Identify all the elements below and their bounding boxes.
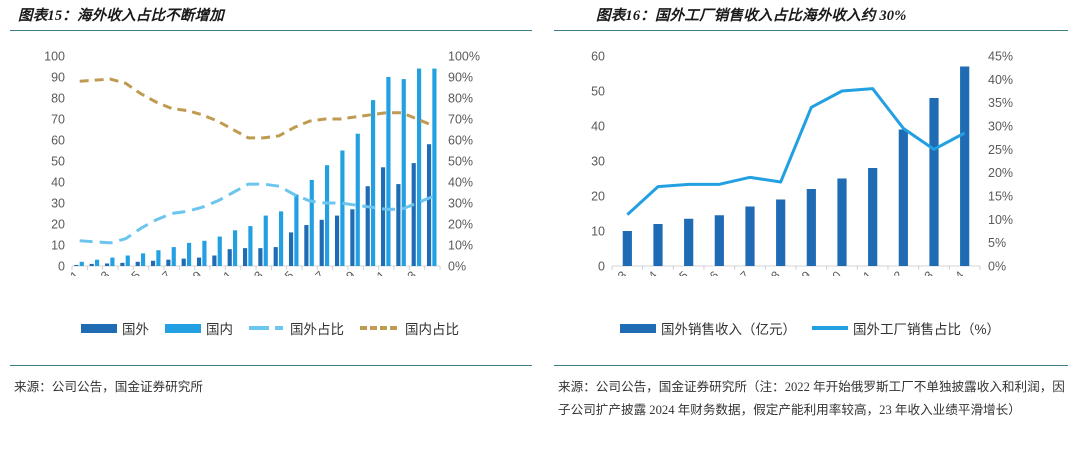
x-axis-tick-label: 2021 bbox=[360, 268, 389, 276]
legend-line-swatch bbox=[249, 326, 285, 330]
x-axis-tick-label-group: 2009 bbox=[176, 268, 205, 276]
line-series bbox=[80, 79, 433, 138]
y2-axis-tick-label: 0% bbox=[988, 260, 1006, 274]
x-axis-tick-label-group: 2019 bbox=[785, 268, 814, 276]
bar bbox=[412, 163, 416, 266]
y2-axis-tick-label: 30% bbox=[988, 120, 1013, 134]
x-axis-tick-label: 2019 bbox=[329, 268, 358, 276]
legend-dash-swatch bbox=[360, 326, 400, 330]
bar bbox=[294, 195, 298, 266]
x-axis-tick-label-group: 2011 bbox=[207, 268, 235, 276]
bar bbox=[110, 258, 114, 266]
figure-panel-16: 图表16：国外工厂销售收入占比海外收入约 30% 01020304050600%… bbox=[540, 0, 1080, 471]
bar bbox=[371, 100, 375, 266]
x-axis-tick-label: 2024 bbox=[938, 268, 967, 276]
bar bbox=[289, 232, 293, 266]
figure-panel-15: 图表15：海外收入占比不断增加 01020304050607080901000%… bbox=[0, 0, 540, 471]
y-axis-tick-label: 0 bbox=[598, 260, 605, 274]
y-axis-tick-label: 10 bbox=[591, 225, 605, 239]
x-axis-tick-label: 2015 bbox=[268, 268, 297, 276]
bar bbox=[304, 225, 308, 266]
y2-axis-tick-label: 100% bbox=[448, 50, 480, 64]
y-axis-tick-label: 90 bbox=[51, 71, 65, 85]
bar bbox=[95, 260, 99, 266]
bar bbox=[274, 247, 278, 266]
x-axis-tick-label-group: 2017 bbox=[298, 268, 327, 276]
bar bbox=[396, 184, 400, 266]
legend-bar-swatch bbox=[81, 324, 117, 333]
bar bbox=[264, 216, 268, 266]
source-divider-right bbox=[554, 365, 1068, 366]
x-axis-tick-label: 2007 bbox=[145, 268, 174, 276]
y-axis-tick-label: 40 bbox=[591, 120, 605, 134]
x-axis-tick-label: 2020 bbox=[815, 268, 844, 276]
x-axis-tick-label-group: 2023 bbox=[390, 268, 419, 276]
page-title-15: 图表15：海外收入占比不断增加 bbox=[18, 4, 526, 25]
y2-axis-tick-label: 25% bbox=[988, 143, 1013, 157]
x-axis-tick-label-group: 2017 bbox=[723, 268, 752, 276]
x-axis-tick-label: 2016 bbox=[693, 268, 722, 276]
x-axis-tick-label: 2013 bbox=[601, 268, 630, 276]
y2-axis-tick-label: 30% bbox=[448, 197, 473, 211]
bar bbox=[366, 186, 370, 266]
y2-axis-tick-label: 60% bbox=[448, 134, 473, 148]
y-axis-tick-label: 100 bbox=[44, 50, 65, 64]
y-axis-tick-label: 60 bbox=[51, 134, 65, 148]
chart-16-legend: 国外销售收入（亿元）国外工厂销售占比（%） bbox=[540, 318, 1080, 338]
line-series bbox=[627, 89, 964, 215]
y-axis-tick-label: 20 bbox=[51, 218, 65, 232]
x-axis-tick-label: 2023 bbox=[390, 268, 419, 276]
x-axis-tick-label: 2013 bbox=[237, 268, 266, 276]
bar bbox=[340, 151, 344, 267]
x-axis-tick-label: 2018 bbox=[754, 268, 783, 276]
bar bbox=[402, 79, 406, 266]
x-axis-tick-label: 2015 bbox=[662, 268, 691, 276]
bar bbox=[141, 253, 145, 266]
bar bbox=[197, 258, 201, 266]
x-axis-tick-label-group: 2021 bbox=[360, 268, 389, 276]
y2-axis-tick-label: 50% bbox=[448, 155, 473, 169]
bar bbox=[126, 256, 130, 267]
bar bbox=[868, 168, 877, 266]
x-axis-tick-label-group: 2016 bbox=[693, 268, 722, 276]
y2-axis-tick-label: 20% bbox=[448, 218, 473, 232]
bar bbox=[807, 189, 816, 266]
y-axis-tick-label: 60 bbox=[591, 50, 605, 64]
bar bbox=[151, 261, 155, 266]
bar bbox=[80, 262, 84, 266]
bar bbox=[929, 98, 938, 266]
y2-axis-tick-label: 5% bbox=[988, 236, 1006, 250]
legend-label: 国外工厂销售占比（%） bbox=[853, 318, 1000, 338]
y-axis-tick-label: 0 bbox=[58, 260, 65, 274]
y-axis-tick-label: 50 bbox=[591, 85, 605, 99]
legend-item[interactable]: 国内占比 bbox=[360, 318, 459, 338]
source-note-16: 来源：公司公告，国金证券研究所（注：2022 年开始俄罗斯工厂不单独披露收入和利… bbox=[558, 376, 1066, 423]
legend-bar-swatch bbox=[165, 324, 201, 333]
x-axis-tick-label: 2022 bbox=[877, 268, 906, 276]
legend-bar-swatch bbox=[620, 324, 656, 333]
bar bbox=[74, 265, 78, 266]
legend-item[interactable]: 国外销售收入（亿元） bbox=[620, 318, 796, 338]
bar bbox=[182, 259, 186, 266]
bar bbox=[899, 130, 908, 267]
x-axis-tick-label-group: 2018 bbox=[754, 268, 783, 276]
x-axis-tick-label-group: 2020 bbox=[815, 268, 844, 276]
bar bbox=[623, 231, 632, 266]
line-series bbox=[80, 184, 433, 243]
y2-axis-tick-label: 0% bbox=[448, 260, 466, 274]
x-axis-tick-label-group: 2021 bbox=[846, 268, 875, 276]
bar bbox=[243, 248, 247, 266]
y-axis-tick-label: 70 bbox=[51, 113, 65, 127]
legend-item[interactable]: 国内 bbox=[165, 318, 233, 338]
x-axis-tick-label-group: 2013 bbox=[237, 268, 266, 276]
bar bbox=[120, 263, 124, 266]
y2-axis-tick-label: 35% bbox=[988, 96, 1013, 110]
y2-axis-tick-label: 80% bbox=[448, 92, 473, 106]
title-divider-top-right bbox=[554, 30, 1068, 31]
x-axis-tick-label-group: 2013 bbox=[601, 268, 630, 276]
bar bbox=[279, 211, 283, 266]
x-axis-tick-label: 2017 bbox=[298, 268, 327, 276]
legend-item[interactable]: 国外 bbox=[81, 318, 149, 338]
source-note-15: 来源：公司公告，国金证券研究所 bbox=[14, 376, 522, 399]
x-axis-tick-label-group: 2003 bbox=[84, 268, 113, 276]
bar bbox=[248, 226, 252, 266]
bar bbox=[386, 77, 390, 266]
chart-15: 01020304050607080901000%10%20%30%40%50%6… bbox=[0, 36, 540, 276]
bar bbox=[381, 167, 385, 266]
y2-axis-tick-label: 90% bbox=[448, 71, 473, 85]
x-axis-tick-label: 2017 bbox=[723, 268, 752, 276]
x-axis-tick-label-group: 2024 bbox=[938, 268, 967, 276]
x-axis-tick-label-group: 2022 bbox=[877, 268, 906, 276]
legend-label: 国内 bbox=[206, 318, 233, 338]
bar bbox=[427, 144, 431, 266]
bar bbox=[417, 69, 421, 266]
title-divider-top-left bbox=[10, 30, 532, 31]
y-axis-tick-label: 20 bbox=[591, 190, 605, 204]
bar bbox=[325, 165, 329, 266]
bar bbox=[960, 67, 969, 267]
x-axis-tick-label-group: 2015 bbox=[662, 268, 691, 276]
bar bbox=[136, 262, 140, 266]
legend-label: 国外销售收入（亿元） bbox=[661, 318, 796, 338]
y2-axis-tick-label: 20% bbox=[988, 166, 1013, 180]
bar bbox=[653, 224, 662, 266]
y-axis-tick-label: 10 bbox=[51, 239, 65, 253]
bar bbox=[684, 219, 693, 266]
x-axis-tick-label-group: 2005 bbox=[114, 268, 143, 276]
bar bbox=[320, 220, 324, 266]
bar bbox=[233, 230, 237, 266]
y2-axis-tick-label: 40% bbox=[448, 176, 473, 190]
bar bbox=[356, 134, 360, 266]
x-axis-tick-label: 2009 bbox=[176, 268, 205, 276]
x-axis-tick-label: 2003 bbox=[84, 268, 113, 276]
y-axis-tick-label: 50 bbox=[51, 155, 65, 169]
legend-line-swatch bbox=[812, 326, 848, 330]
y2-axis-tick-label: 45% bbox=[988, 50, 1013, 64]
legend-label: 国内占比 bbox=[405, 318, 459, 338]
x-axis-tick-label: 2011 bbox=[207, 268, 235, 276]
legend-item[interactable]: 国外占比 bbox=[249, 318, 344, 338]
page-title-16: 图表16：国外工厂销售收入占比海外收入约 30% bbox=[596, 4, 1066, 25]
x-axis-tick-label-group: 2007 bbox=[145, 268, 174, 276]
bar bbox=[212, 256, 216, 267]
bar bbox=[335, 216, 339, 266]
y2-axis-tick-label: 40% bbox=[988, 73, 1013, 87]
bar bbox=[172, 247, 176, 266]
y2-axis-tick-label: 15% bbox=[988, 190, 1013, 204]
source-divider-left bbox=[10, 365, 532, 366]
x-axis-tick-label: 2023 bbox=[907, 268, 936, 276]
y-axis-tick-label: 40 bbox=[51, 176, 65, 190]
x-axis-tick-label-group: 2019 bbox=[329, 268, 358, 276]
x-axis-tick-label-group: 2014 bbox=[631, 268, 660, 276]
bar bbox=[432, 69, 436, 266]
bar bbox=[715, 215, 724, 266]
y-axis-tick-label: 30 bbox=[51, 197, 65, 211]
x-axis-tick-label: 2019 bbox=[785, 268, 814, 276]
bar bbox=[156, 250, 160, 266]
y2-axis-tick-label: 10% bbox=[448, 239, 473, 253]
bar bbox=[837, 179, 846, 267]
chart-15-legend: 国外国内国外占比国内占比 bbox=[0, 318, 540, 338]
figure-page: 图表15：海外收入占比不断增加 01020304050607080901000%… bbox=[0, 0, 1080, 471]
bar bbox=[776, 200, 785, 267]
bar bbox=[310, 180, 314, 266]
bar bbox=[166, 260, 170, 266]
x-axis-tick-label-group: 2023 bbox=[907, 268, 936, 276]
x-axis-tick-label-group: 2015 bbox=[268, 268, 297, 276]
bar bbox=[258, 248, 262, 266]
bar bbox=[350, 209, 354, 266]
x-axis-tick-label: 2014 bbox=[631, 268, 660, 276]
x-axis-tick-label: 2021 bbox=[846, 268, 875, 276]
chart-16: 01020304050600%5%10%15%20%25%30%35%40%45… bbox=[540, 36, 1080, 276]
x-axis-tick-label: 2005 bbox=[114, 268, 143, 276]
legend-item[interactable]: 国外工厂销售占比（%） bbox=[812, 318, 1000, 338]
y2-axis-tick-label: 10% bbox=[988, 213, 1013, 227]
legend-label: 国外 bbox=[122, 318, 149, 338]
y-axis-tick-label: 80 bbox=[51, 92, 65, 106]
bar bbox=[218, 237, 222, 266]
bar bbox=[90, 264, 94, 266]
bar bbox=[187, 243, 191, 266]
bar bbox=[105, 263, 109, 266]
legend-label: 国外占比 bbox=[290, 318, 344, 338]
bar bbox=[228, 249, 232, 266]
y-axis-tick-label: 30 bbox=[591, 155, 605, 169]
bar bbox=[745, 207, 754, 267]
bar bbox=[202, 241, 206, 266]
y2-axis-tick-label: 70% bbox=[448, 113, 473, 127]
